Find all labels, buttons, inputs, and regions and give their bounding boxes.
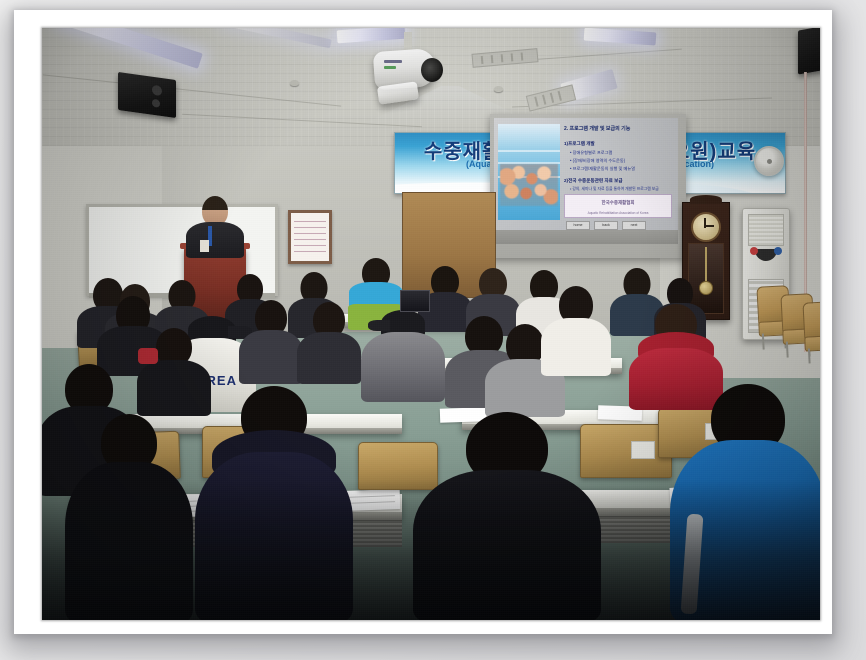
slide-pool-photo — [498, 124, 560, 220]
attendee — [64, 414, 194, 620]
attendee — [296, 302, 362, 382]
smoke-detector-icon — [494, 86, 503, 92]
projector-indicator — [384, 66, 396, 69]
stacked-chair — [802, 301, 820, 362]
photograph-content: 수중재활운동 (수중재활지도요원)교육 (Aquatic Rehabilitat… — [42, 28, 820, 620]
gray-jacket-attendee — [360, 310, 446, 402]
attendee — [238, 300, 304, 382]
slide-nav-back[interactable]: back — [594, 221, 618, 230]
framed-certificate — [288, 210, 332, 264]
slide-bullet: • 강의, 세미나 및 자료 등을 통하여 개발된 프로그램 보급 — [570, 187, 659, 192]
slide-pool-crowd — [500, 164, 558, 206]
aircon-badge — [774, 247, 782, 255]
smoke-detector-icon — [290, 80, 299, 86]
wall-fan — [754, 146, 784, 176]
clock-face — [691, 212, 721, 242]
photograph: 수중재활운동 (수중재활지도요원)교육 (Aquatic Rehabilitat… — [42, 28, 820, 620]
slide-logo-subtext: Aquatic Rehabilitation Association of Ko… — [565, 211, 671, 215]
aircon-badge — [750, 247, 758, 255]
attendee — [136, 328, 212, 414]
projector-indicator — [384, 60, 402, 63]
cap-brim — [368, 320, 390, 331]
attendee — [194, 386, 354, 620]
slide-section-2: 2)전국 수중운동관련 자료 보급 — [564, 178, 623, 184]
screen-surface: 2. 프로그램 개발 및 보급의 기능 1)프로그램 개발 • 장애유형별로 프… — [494, 118, 678, 244]
slide-logo: 한국수중재활협회 Aquatic Rehabilitation Associat… — [564, 194, 672, 218]
slide-section-1: 1)프로그램 개발 — [564, 141, 595, 147]
clock-crown — [690, 195, 722, 204]
slide-nav-home[interactable]: home — [566, 221, 590, 230]
attendee — [540, 286, 612, 374]
attendee — [412, 412, 602, 620]
photo-frame-outer: 수중재활운동 (수중재활지도요원)교육 (Aquatic Rehabilitat… — [0, 0, 866, 660]
slide-bullet: • 장애유형별로 프로그램 — [570, 150, 612, 156]
slide-bullet: • 프로그램/재활운동의 실행 및 메뉴얼 — [570, 166, 635, 172]
aircon-top-panel — [748, 214, 784, 246]
projector-lens-icon — [421, 58, 443, 82]
blue-trackjacket-attendee — [668, 384, 820, 620]
red-bag — [138, 348, 158, 364]
projection-screen: 2. 프로그램 개발 및 보급의 기능 1)프로그램 개발 • 장애유형별로 프… — [490, 114, 686, 258]
presenter — [182, 196, 248, 254]
wall-speaker-left — [118, 72, 176, 118]
slide-heading: 2. 프로그램 개발 및 보급의 기능 — [564, 125, 630, 132]
wall-speaker-right — [798, 28, 820, 75]
projected-slide: 2. 프로그램 개발 및 보급의 기능 1)프로그램 개발 • 장애유형별로 프… — [494, 118, 678, 230]
slide-nav-next[interactable]: next — [622, 221, 646, 230]
laptop — [400, 290, 430, 312]
slide-bullet: • (장애/비장애 영역의 수도운동) — [570, 158, 625, 164]
clock-minute-hand — [705, 225, 714, 227]
slide-nav-buttons[interactable]: home back next — [566, 221, 646, 230]
presenter-badge — [200, 240, 209, 252]
slide-logo-text: 한국수중재활협회 — [565, 200, 671, 206]
screen-lower-edge — [494, 230, 678, 244]
